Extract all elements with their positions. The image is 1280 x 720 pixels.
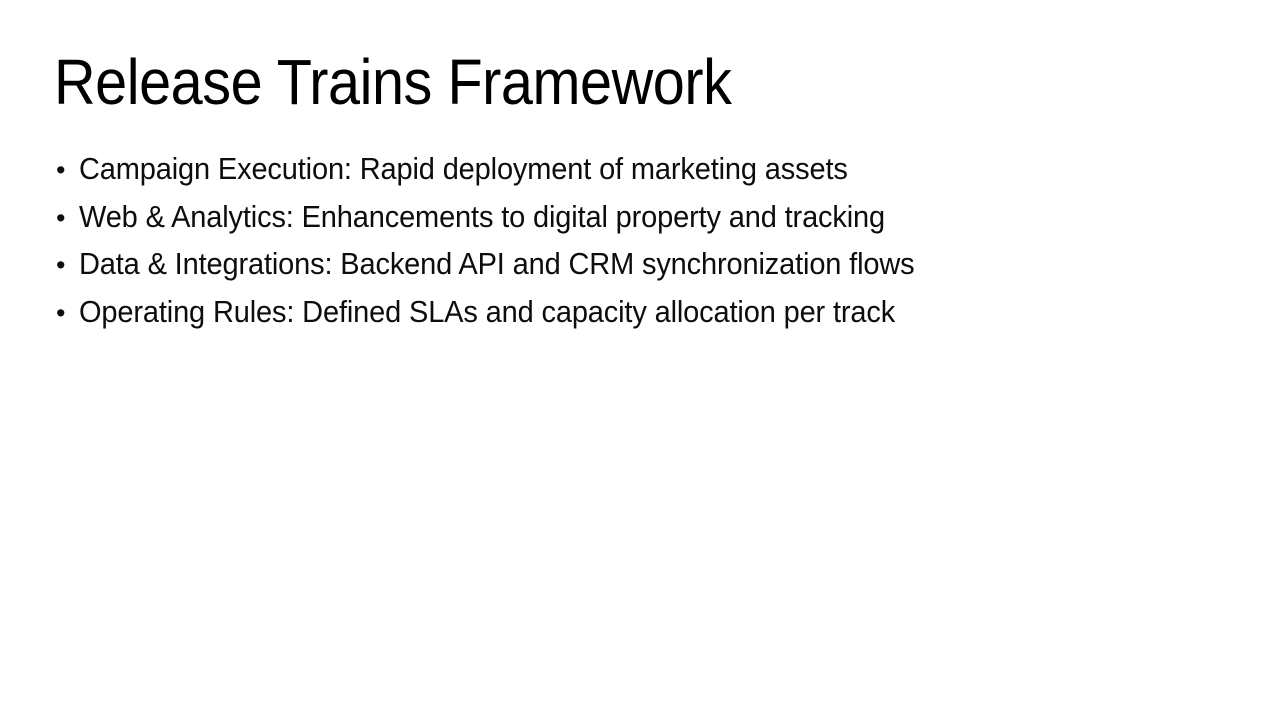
bullet-point-icon: •: [56, 147, 79, 195]
bullet-point-icon: •: [56, 195, 79, 243]
list-item: • Web & Analytics: Enhancements to digit…: [56, 193, 1236, 241]
list-item-label: Campaign Execution: Rapid deployment of …: [79, 145, 848, 193]
bullet-point-icon: •: [56, 242, 79, 290]
slide-title: Release Trains Framework: [54, 48, 1116, 117]
list-item-label: Operating Rules: Defined SLAs and capaci…: [79, 288, 895, 336]
presentation-slide: Release Trains Framework • Campaign Exec…: [0, 0, 1280, 720]
list-item: • Data & Integrations: Backend API and C…: [56, 240, 1236, 288]
list-item: • Operating Rules: Defined SLAs and capa…: [56, 288, 1236, 336]
slide-bullet-list: • Campaign Execution: Rapid deployment o…: [56, 145, 1236, 335]
list-item-label: Web & Analytics: Enhancements to digital…: [79, 193, 885, 241]
list-item-label: Data & Integrations: Backend API and CRM…: [79, 240, 915, 288]
list-item: • Campaign Execution: Rapid deployment o…: [56, 145, 1236, 193]
bullet-point-icon: •: [56, 290, 79, 338]
